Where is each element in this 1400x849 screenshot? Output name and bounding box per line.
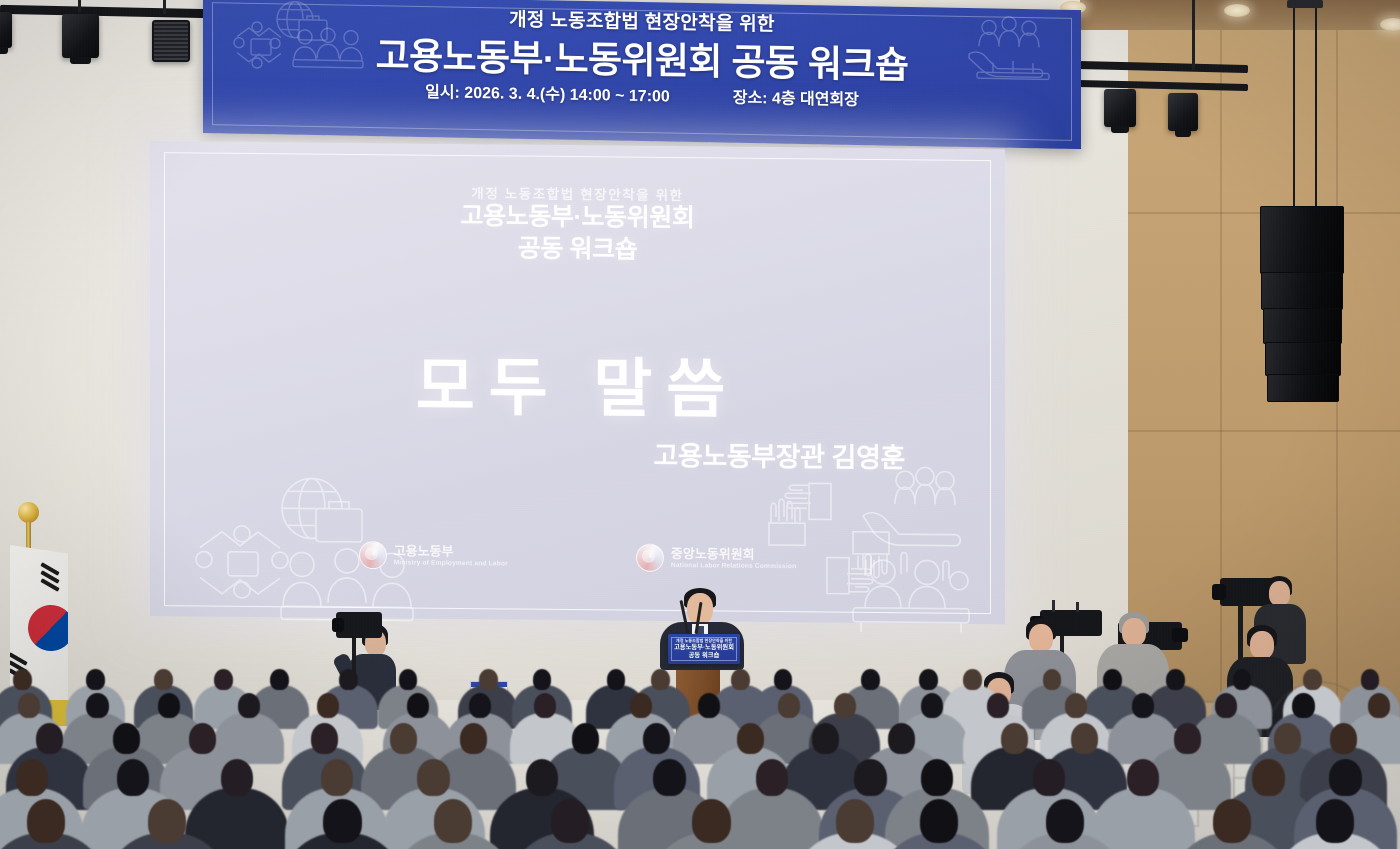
hand-holding-people-icon [857,466,975,551]
truss-drop-rod [78,0,81,12]
ceiling-downlight [1224,4,1250,17]
lectern-sign-line-2: 공동 워크숍 [668,652,740,660]
logo-ministry-of-employment-and-labor: 고용노동부 Ministry of Employment and Labor [359,541,508,570]
press-photo-scene: 개정 노동조합법 현장안착을 위한 고용노동부·노동위원회 공동 워크숍 일시:… [0,0,1400,849]
flag-finial [18,502,39,523]
audience-member [392,799,515,849]
taeguk-icon [636,544,664,572]
banner-date: 일시: 2026. 3. 4.(수) 14:00 ~ 17:00 [425,78,670,106]
stage-light [1104,89,1136,127]
logo-label-ko: 중앙노동위원회 [671,547,796,563]
taeguk-icon [359,541,387,569]
audience-member [1274,799,1397,849]
logo-label-en: National Labor Relations Commission [671,562,796,571]
projection-screen: 개정 노동조합법 현장안착을 위한 고용노동부·노동위원회 공동 워크숍 모두 … [150,141,1005,624]
stage-light [0,12,12,48]
lectern-sign-title: 고용노동부·노동위원회 공동 워크숍 [668,644,740,660]
audience-member [281,799,404,849]
lectern-sign-line-1: 고용노동부·노동위원회 [668,644,740,652]
line-array-speaker [1255,0,1355,400]
audience-member [0,799,107,849]
audience-member [878,799,1001,849]
logo-national-labor-relations-commission: 중앙노동위원회 National Labor Relations Commiss… [636,544,796,574]
audience [0,665,1400,849]
camera-lens [332,618,344,632]
logo-label-ko: 고용노동부 [394,544,508,560]
slide-title: 고용노동부·노동위원회 공동 워크숍 [150,198,1005,269]
audience-member [1004,799,1127,849]
slide-headline: 모두 말씀 [150,333,1005,433]
event-banner: 개정 노동조합법 현장안착을 위한 고용노동부·노동위원회 공동 워크숍 일시:… [203,0,1081,149]
taeguk-symbol [20,597,68,659]
stage-light [62,14,99,58]
stage-light [1168,93,1198,131]
truss-drop-rod [163,0,166,14]
ceiling-downlight [1380,18,1400,31]
audience-member [106,799,229,849]
stage-light [152,20,190,62]
audience-member [509,799,632,849]
lectern-sign: 개정 노동조합법 현장안착을 위한 고용노동부·노동위원회 공동 워크숍 [668,634,740,664]
audience-member [650,799,773,849]
lectern-sign-pre-title: 개정 노동조합법 현장안착을 위한 [668,638,740,644]
logo-label-en: Ministry of Employment and Labor [394,559,508,567]
truss-drop-chain [1192,0,1195,70]
banner-place: 장소: 4층 대연회장 [733,84,859,110]
